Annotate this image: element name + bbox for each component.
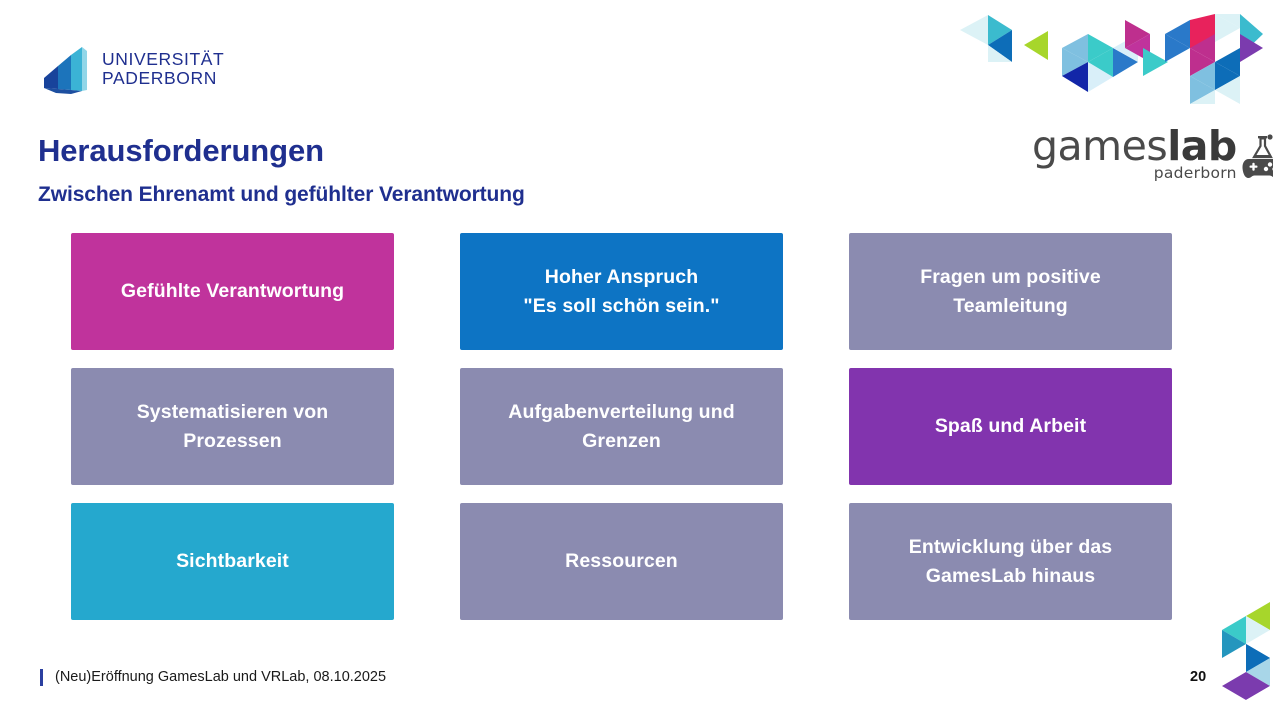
topic-box[interactable]: Hoher Anspruch "Es soll schön sein." — [460, 233, 783, 350]
page-title: Herausforderungen — [38, 133, 324, 169]
gameslab-main-text: gameslab — [1032, 126, 1237, 166]
footer-accent-bar — [40, 669, 43, 686]
triangle-decoration-bottom-right — [1190, 600, 1273, 716]
topic-box[interactable]: Gefühlte Verantwortung — [71, 233, 394, 350]
topic-box[interactable]: Fragen um positive Teamleitung — [849, 233, 1172, 350]
gamepad-flask-icon — [1241, 133, 1273, 181]
triangle-decoration-top-right — [950, 0, 1273, 110]
university-name-line1: UNIVERSITÄT — [102, 50, 224, 69]
university-logo: UNIVERSITÄT PADERBORN — [38, 42, 224, 96]
footer-text: (Neu)Eröffnung GamesLab und VRLab, 08.10… — [55, 669, 386, 685]
topic-box[interactable]: Systematisieren von Prozessen — [71, 368, 394, 485]
topic-box[interactable]: Aufgabenverteilung und Grenzen — [460, 368, 783, 485]
topic-grid: Gefühlte Verantwortung Hoher Anspruch "E… — [71, 233, 1167, 620]
gameslab-wordmark: gameslab paderborn — [1032, 126, 1237, 182]
topic-box[interactable]: Entwicklung über das GamesLab hinaus — [849, 503, 1172, 620]
topic-box[interactable]: Ressourcen — [460, 503, 783, 620]
gameslab-sub-text: paderborn — [1154, 164, 1237, 182]
gameslab-logo: gameslab paderborn — [1032, 126, 1273, 182]
topic-box[interactable]: Spaß und Arbeit — [849, 368, 1172, 485]
page-subtitle: Zwischen Ehrenamt und gefühlter Verantwo… — [38, 183, 525, 207]
university-name-line2: PADERBORN — [102, 69, 224, 88]
university-wordmark: UNIVERSITÄT PADERBORN — [102, 50, 224, 88]
paderborn-layers-icon — [38, 42, 92, 96]
topic-box[interactable]: Sichtbarkeit — [71, 503, 394, 620]
gameslab-lab-text: lab — [1167, 122, 1237, 170]
gameslab-games-text: games — [1032, 122, 1167, 170]
